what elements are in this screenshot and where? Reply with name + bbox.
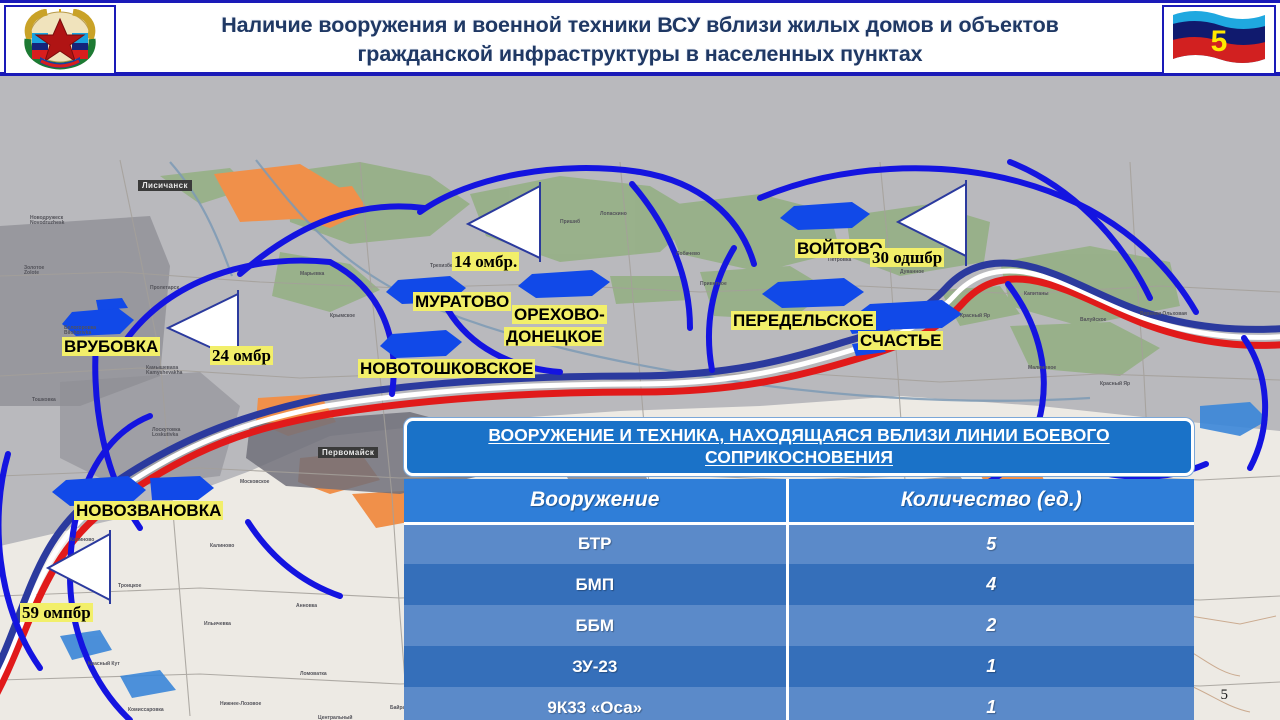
map-city-caption: Первомайск xyxy=(318,447,378,458)
panel-title-banner: ВООРУЖЕНИЕ И ТЕХНИКА, НАХОДЯЩАЯСЯ ВБЛИЗИ… xyxy=(404,418,1194,476)
map-unit-label-14-ombr: 14 омбр. xyxy=(452,252,519,271)
page-title: Наличие вооружения и военной техники ВСУ… xyxy=(150,11,1130,68)
map-label-schastye: СЧАСТЬЕ xyxy=(858,331,943,350)
page-title-line2: гражданской инфраструктуры в населенных … xyxy=(150,40,1130,69)
table-row: 9К33 «Оса» 1 xyxy=(404,687,1194,720)
cell-weapon: 9К33 «Оса» xyxy=(404,687,787,720)
map-city-caption: Лисичанск xyxy=(138,180,192,191)
page-number: 5 xyxy=(1221,687,1229,704)
column-header-quantity: Количество (ед.) xyxy=(787,479,1194,523)
table-body: БТР 5 БМП 4 ББМ 2 ЗУ-23 1 xyxy=(404,523,1194,720)
cell-weapon: БТР xyxy=(404,523,787,564)
map-label-muratovo: МУРАТОВО xyxy=(413,292,511,311)
map-label-donetskoe: ДОНЕЦКОЕ xyxy=(504,327,604,346)
lpr-flag: 5 xyxy=(1162,5,1276,75)
cell-quantity: 2 xyxy=(787,605,1194,646)
slide-root: Наличие вооружения и военной техники ВСУ… xyxy=(0,0,1280,720)
weapons-panel: ВООРУЖЕНИЕ И ТЕХНИКА, НАХОДЯЩАЯСЯ ВБЛИЗИ… xyxy=(404,418,1194,720)
map-label-vrubovka: ВРУБОВКА xyxy=(62,337,160,356)
map-label-orehovo: ОРЕХОВО- xyxy=(512,305,607,324)
cell-quantity: 5 xyxy=(787,523,1194,564)
map-canvas[interactable]: НоводружескNovodruzhesk ЗолотоеZolote Бе… xyxy=(0,76,1280,720)
cell-quantity: 1 xyxy=(787,687,1194,720)
map-unit-label-24-ombr: 24 омбр xyxy=(210,346,273,365)
slide-header: Наличие вооружения и военной техники ВСУ… xyxy=(0,0,1280,76)
cell-weapon: БМП xyxy=(404,564,787,605)
panel-title-text: ВООРУЖЕНИЕ И ТЕХНИКА, НАХОДЯЩАЯСЯ ВБЛИЗИ… xyxy=(407,425,1191,469)
flag-badge-number: 5 xyxy=(1211,25,1228,58)
weapons-table: Вооружение Количество (ед.) БТР 5 БМП 4 … xyxy=(404,479,1194,720)
map-unit-label-59-ompbr: 59 омпбр xyxy=(20,603,93,622)
cell-quantity: 1 xyxy=(787,646,1194,687)
table-row: БТР 5 xyxy=(404,523,1194,564)
map-label-novotoshkovskoe: НОВОТОШКОВСКОЕ xyxy=(358,359,535,378)
map-label-novozvanovka: НОВОЗВАНОВКА xyxy=(74,501,223,520)
map-unit-label-30-odshbr: 30 одшбр xyxy=(870,248,944,267)
lpr-coat-of-arms-emblem xyxy=(4,5,116,75)
cell-weapon: ЗУ-23 xyxy=(404,646,787,687)
page-title-line1: Наличие вооружения и военной техники ВСУ… xyxy=(150,11,1130,40)
table-header-row: Вооружение Количество (ед.) xyxy=(404,479,1194,523)
table-row: БМП 4 xyxy=(404,564,1194,605)
map-label-peredelskoe: ПЕРЕДЕЛЬСКОЕ xyxy=(731,311,876,330)
cell-quantity: 4 xyxy=(787,564,1194,605)
cell-weapon: ББМ xyxy=(404,605,787,646)
table-row: ЗУ-23 1 xyxy=(404,646,1194,687)
table-row: ББМ 2 xyxy=(404,605,1194,646)
column-header-weapon: Вооружение xyxy=(404,479,787,523)
